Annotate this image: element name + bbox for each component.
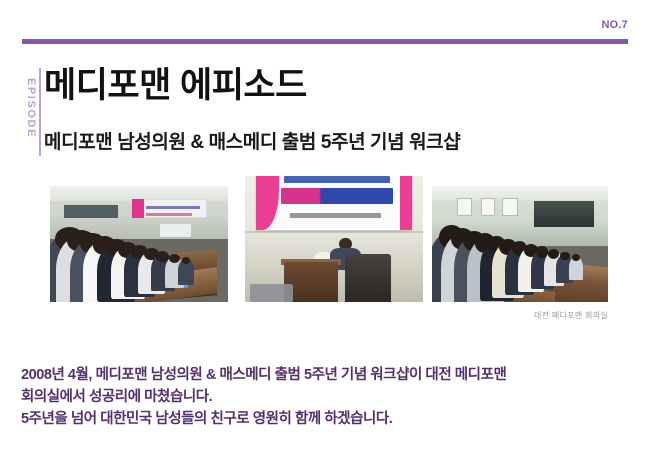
photo-banner-and-speaker (245, 176, 423, 302)
photo1-attendees (50, 216, 228, 302)
photo2-banner-accent-left (256, 176, 279, 230)
episode-tag-label: EPISODE (25, 64, 37, 152)
photo3-attendees (432, 212, 608, 302)
photo3-wall-frame (502, 198, 518, 217)
photo-meeting-room-right-row (432, 186, 608, 302)
photo2-chair (345, 254, 391, 302)
photo2-banner-line-2 (281, 188, 394, 204)
photo2-banner-accent-right (400, 176, 413, 230)
page-title: 메디포맨 에피소드 (44, 66, 307, 106)
episode-page: NO.7 EPISODE 메디포맨 에피소드 메디포맨 남성의원 & 매스메디 … (0, 0, 650, 457)
photo-caption: 대전 메디포맨 회의실 (534, 310, 608, 321)
page-subtitle: 메디포맨 남성의원 & 매스메디 출범 5주년 기념 워크샵 (44, 127, 460, 154)
photo2-banner (256, 176, 413, 230)
photo3-wall-frame (481, 198, 495, 217)
photo2-wall-molding (245, 231, 423, 233)
photo-gallery (50, 176, 608, 302)
episode-tag-bar (39, 68, 41, 156)
page-number: NO.7 (602, 19, 628, 31)
description-line: 5주년을 넘어 대한민국 남성들의 친구로 영원히 함께 하겠습니다. (21, 408, 635, 430)
photo2-banner-line-1 (284, 176, 391, 183)
photo1-banner-text-line (146, 206, 199, 209)
photo3-wall-frame (457, 198, 473, 217)
description-line: 2008년 4월, 메디포맨 남성의원 & 매스메디 출범 5주년 기념 워크샵… (21, 364, 635, 386)
description-block: 2008년 4월, 메디포맨 남성의원 & 매스메디 출범 5주년 기념 워크샵… (21, 364, 635, 430)
header-divider-rule (22, 39, 628, 44)
photo2-floor-object (250, 284, 293, 302)
photo-meeting-room-left-row (50, 186, 228, 302)
episode-tag: EPISODE (21, 68, 41, 156)
photo2-banner-line-3 (290, 213, 381, 218)
description-line: 회의실에서 성공리에 마쳤습니다. (21, 386, 635, 408)
